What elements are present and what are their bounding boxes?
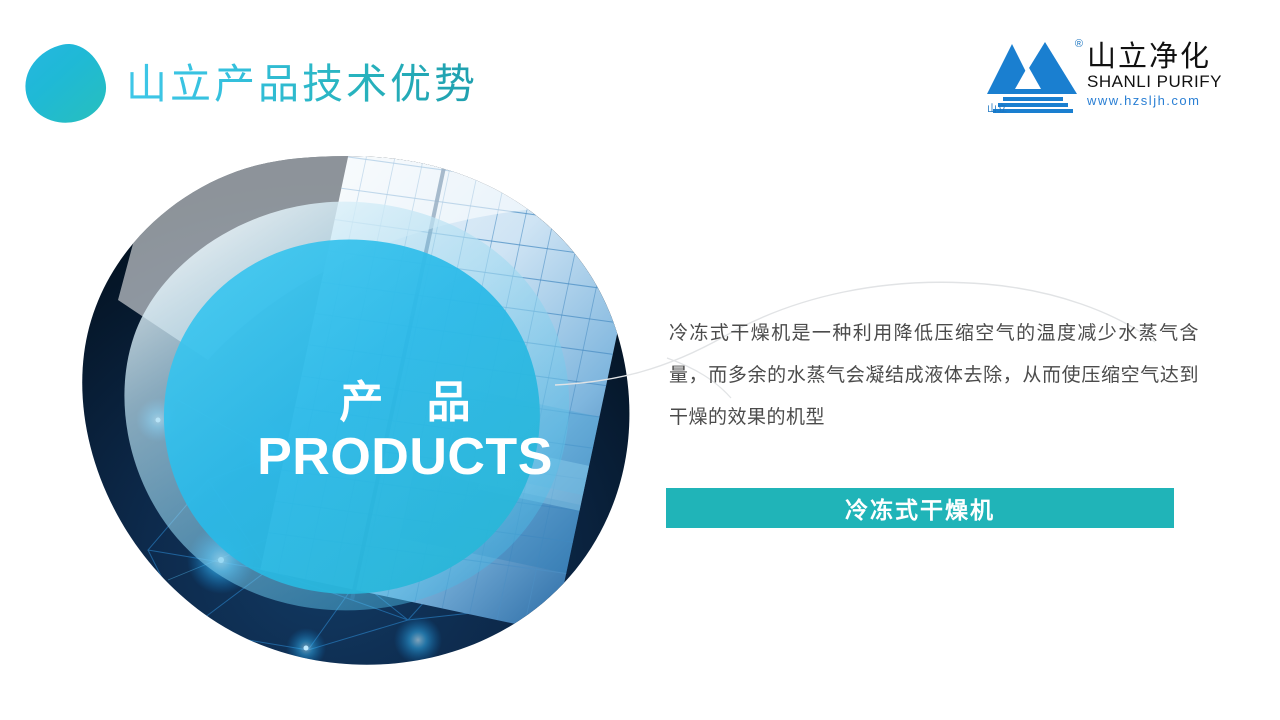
slide-header: 山立产品技术优势 ® 山立 山立净化 SHANLI PURIFY www.hzs… bbox=[0, 0, 1280, 150]
blob-shape-icon bbox=[18, 38, 112, 131]
product-name-banner-label: 冷冻式干燥机 bbox=[845, 491, 995, 525]
shanli-mountain-logo-icon: ® 山立 bbox=[985, 36, 1081, 116]
registered-trademark-icon: ® bbox=[1075, 38, 1083, 50]
slide-root: 山立产品技术优势 ® 山立 山立净化 SHANLI PURIFY www.hzs… bbox=[0, 0, 1280, 720]
logo-text-block: 山立净化 SHANLI PURIFY www.hzsljh.com bbox=[1087, 36, 1222, 109]
logo-name-cn: 山立净化 bbox=[1087, 40, 1222, 72]
company-logo: ® 山立 山立净化 SHANLI PURIFY www.hzsljh.com bbox=[985, 36, 1222, 116]
product-name-banner: 冷冻式干燥机 bbox=[666, 488, 1174, 528]
logo-website-url: www.hzsljh.com bbox=[1087, 92, 1222, 109]
product-description: 冷冻式干燥机是一种利用降低压缩空气的温度减少水蒸气含量，而多余的水蒸气会凝结成液… bbox=[669, 312, 1199, 438]
products-hero-blob bbox=[58, 150, 658, 680]
page-title: 山立产品技术优势 bbox=[126, 58, 478, 110]
logo-name-en: SHANLI PURIFY bbox=[1087, 72, 1222, 92]
logo-mark-label: 山立 bbox=[987, 100, 1007, 115]
